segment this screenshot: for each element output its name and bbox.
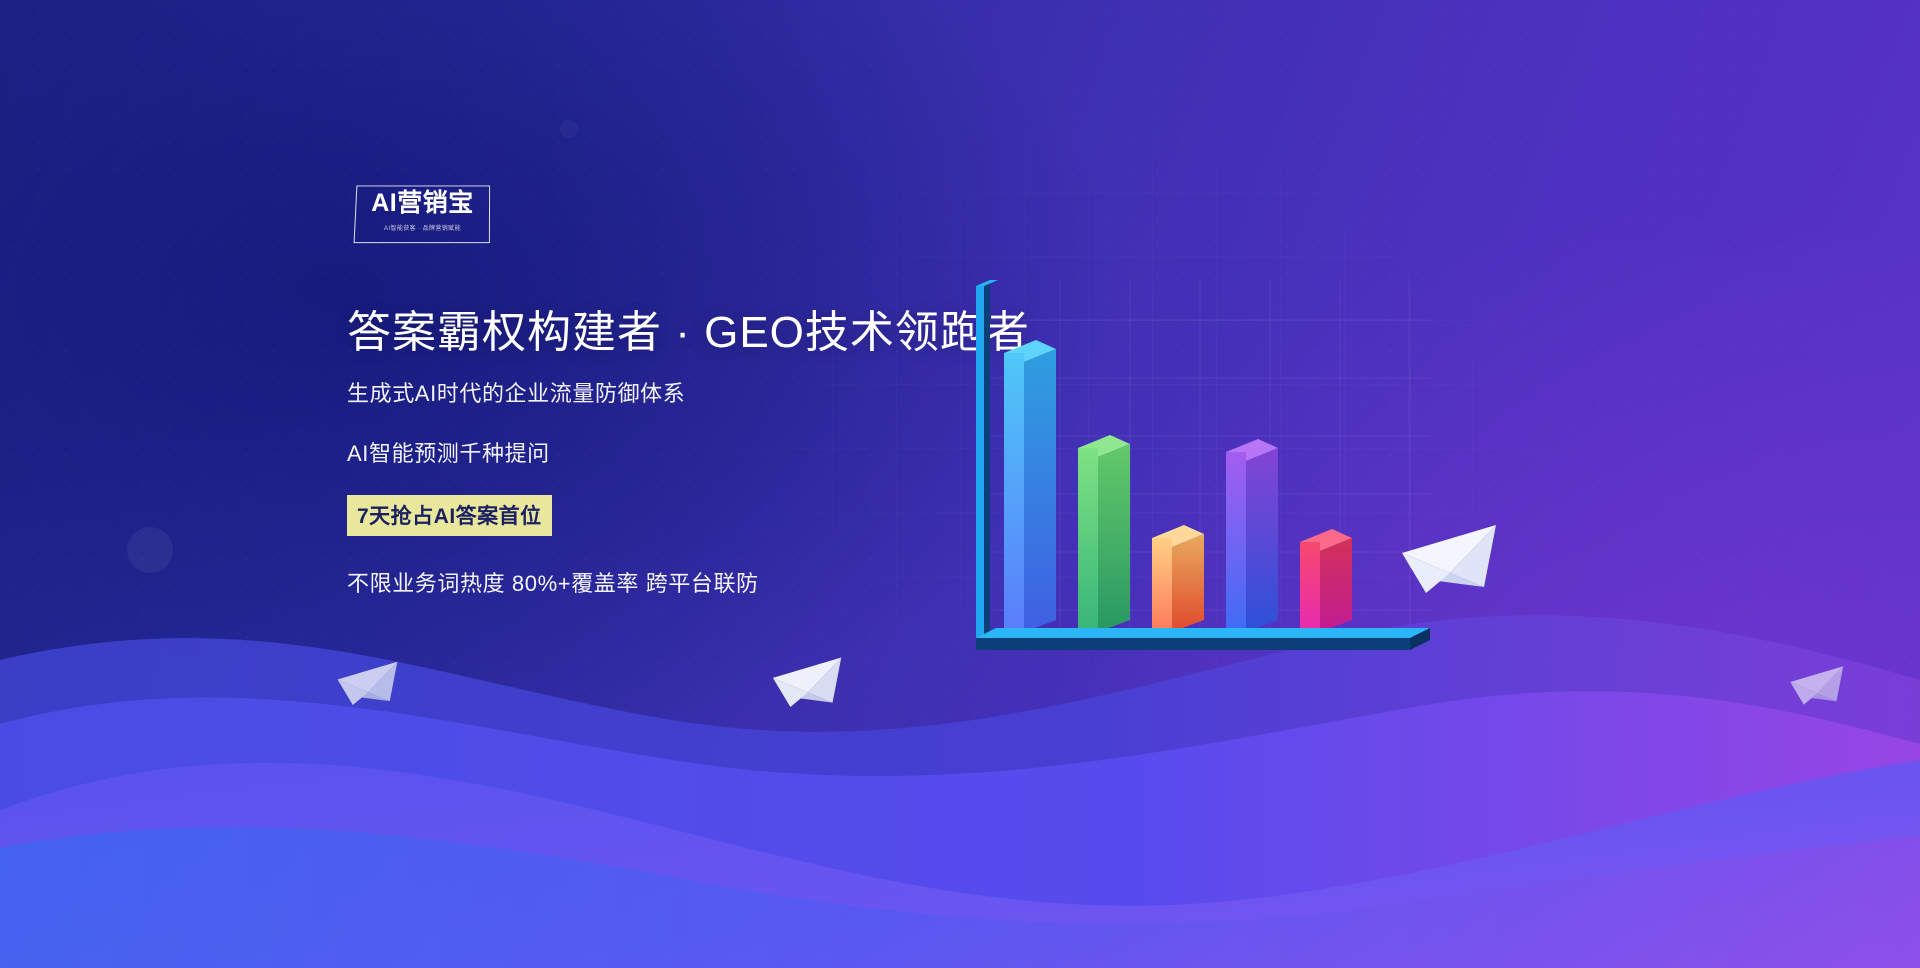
logo-wordmark: AI营销宝 (355, 191, 490, 216)
bar-3 (1152, 525, 1204, 632)
chart-bars (1004, 340, 1352, 632)
paper-plane-icon-1 (1398, 515, 1508, 605)
bar-5 (1300, 529, 1352, 632)
chart-y-axis (976, 280, 998, 638)
bar-2 (1078, 435, 1130, 632)
paper-plane-icon-4 (1788, 660, 1850, 712)
bar-1 (1004, 340, 1056, 632)
brand-logo[interactable]: AI营销宝 AI智能获客 · 品牌营销赋能 (355, 185, 490, 243)
chart-x-axis (976, 628, 1430, 650)
hero-banner: AI营销宝 AI智能获客 · 品牌营销赋能 答案霸权构建者 · GEO技术领跑者… (0, 0, 1920, 968)
paper-plane-icon-3 (335, 655, 405, 713)
bar-chart (960, 280, 1440, 680)
logo-tagline: AI智能获客 · 品牌营销赋能 (355, 223, 490, 232)
hero-highlight-badge: 7天抢占AI答案首位 (347, 495, 552, 536)
decorative-circle (560, 120, 578, 138)
paper-plane-icon-2 (770, 650, 850, 716)
bar-4 (1226, 439, 1278, 632)
